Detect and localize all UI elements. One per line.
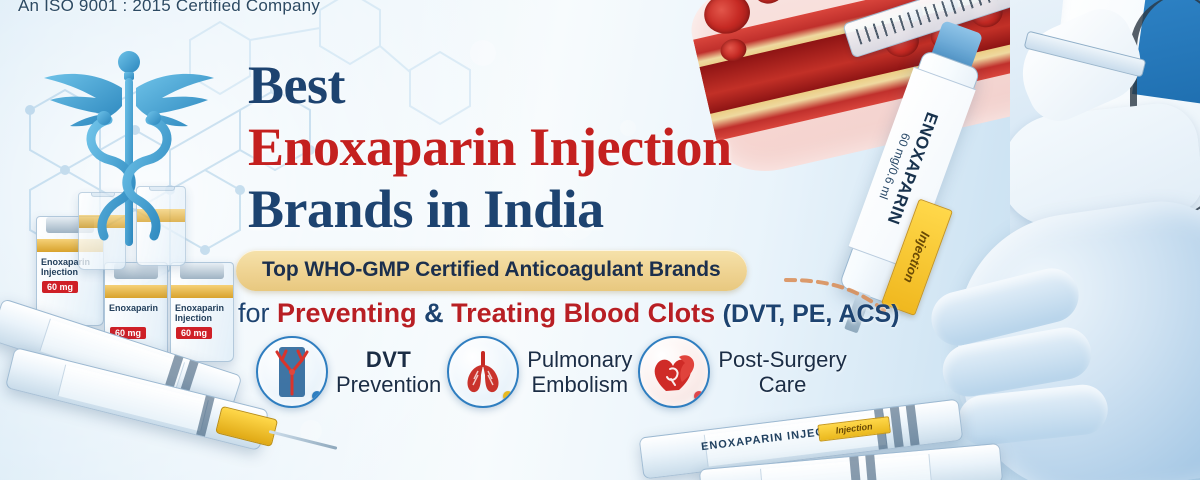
- subheadline-for: for: [238, 298, 270, 328]
- status-dot: [694, 391, 704, 401]
- red-blood-cell: [751, 0, 786, 7]
- bottom-syringe-pair: ENOXAPARIN INJECTION Injection: [640, 404, 980, 480]
- heart-icon: [649, 349, 699, 395]
- vial-gold-band: [105, 285, 167, 298]
- subheadline-ampersand: &: [424, 298, 444, 328]
- status-dot: [312, 391, 322, 401]
- caduceus-logo: [34, 48, 224, 248]
- vial: Enoxaparin Injection 60 mg: [170, 262, 234, 362]
- lungs-badge: [447, 336, 519, 408]
- promo-banner: ENOXAPARIN 60 mg/0.6 ml Injection ENOXAP…: [0, 0, 1200, 480]
- headline-line-1: Best: [248, 54, 928, 116]
- vial-strength-badge: 60 mg: [42, 281, 78, 293]
- ribbon-container: Top WHO-GMP Certified Anticoagulant Bran…: [236, 250, 747, 290]
- vial-strength-badge: 60 mg: [176, 327, 212, 339]
- headline: Best Enoxaparin Injection Brands in Indi…: [248, 54, 928, 240]
- headline-line-3: Brands in India: [248, 178, 928, 240]
- feature-pulmonary-embolism: Pulmonary Embolism: [447, 336, 632, 408]
- feature-label-line2: Care: [718, 372, 846, 397]
- syringe-band: [890, 407, 904, 448]
- subheadline-preventing: Preventing: [277, 298, 417, 328]
- feature-dvt-prevention: DVT Prevention: [256, 336, 441, 408]
- feature-label: Post-Surgery Care: [718, 347, 846, 397]
- subheadline-treating: Treating Blood Clots: [451, 298, 715, 328]
- feature-label-line1: DVT: [366, 347, 412, 372]
- vial-cap: [180, 263, 225, 279]
- feature-label-line2: Embolism: [527, 372, 632, 397]
- subheadline: for Preventing & Treating Blood Clots (D…: [238, 298, 900, 329]
- certification-ribbon: Top WHO-GMP Certified Anticoagulant Bran…: [236, 250, 747, 291]
- vein-tree-badge: [256, 336, 328, 408]
- vial-name: Enoxaparin: [109, 303, 163, 313]
- feature-label: Pulmonary Embolism: [527, 347, 632, 397]
- feature-label-line1: Post-Surgery: [718, 347, 846, 372]
- vial-name: Enoxaparin Injection: [175, 303, 229, 323]
- feature-post-surgery-care: Post-Surgery Care: [638, 336, 846, 408]
- status-dot: [503, 391, 513, 401]
- vial-name-line1: Enoxaparin: [175, 303, 224, 313]
- vial-name-line2: Injection: [41, 267, 78, 277]
- feature-label: DVT Prevention: [336, 347, 441, 397]
- feature-label-line2: Prevention: [336, 372, 441, 397]
- heart-badge: [638, 336, 710, 408]
- needle-cap: [215, 406, 278, 447]
- iso-certification-text: An ISO 9001 : 2015 Certified Company: [18, 0, 320, 16]
- headline-line-2: Enoxaparin Injection: [248, 116, 928, 178]
- syringe-band: [906, 405, 920, 446]
- lungs-icon: [458, 347, 508, 397]
- feature-label-line1: Pulmonary: [527, 347, 632, 372]
- vial-name-line1: Enoxaparin: [109, 303, 158, 313]
- vial-gold-band: [171, 285, 233, 298]
- feature-list: DVT Prevention Pulmonary Embolism: [256, 336, 847, 408]
- vein-tree-icon: [268, 346, 316, 398]
- vial-name-line2: Injection: [175, 313, 212, 323]
- syringe-needle: [1024, 31, 1147, 78]
- subheadline-abbreviations: (DVT, PE, ACS): [723, 300, 900, 328]
